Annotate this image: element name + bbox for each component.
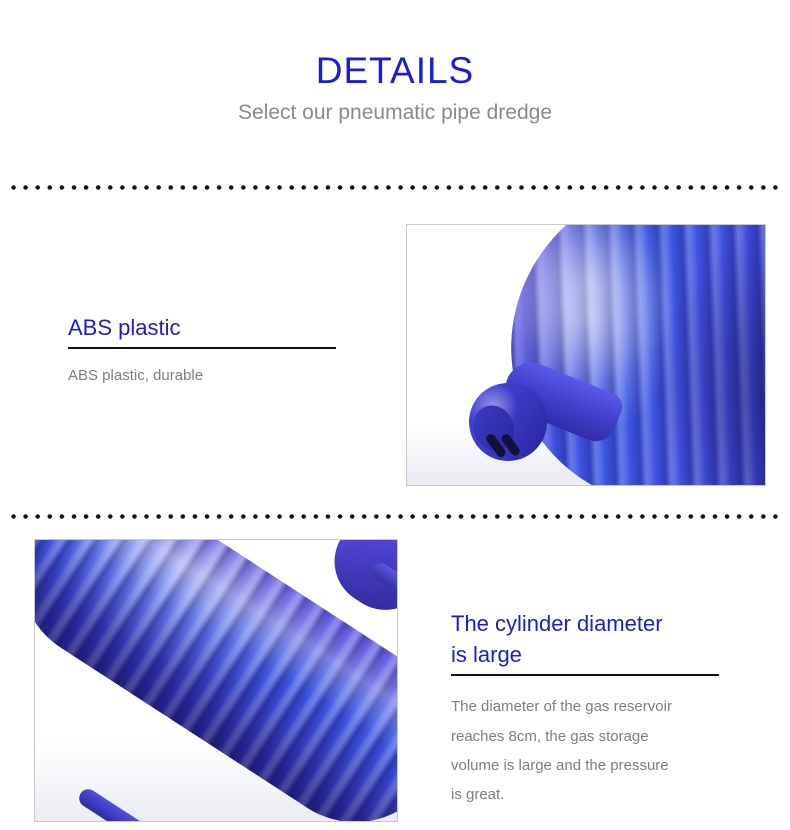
page-title: DETAILS: [0, 0, 790, 91]
product-photo-cylinder: [34, 539, 398, 822]
feature-title: The cylinder diameter is large: [451, 608, 751, 670]
product-photo-pump-head: [406, 224, 766, 486]
photo-canvas: [407, 225, 765, 485]
page-subtitle: Select our pneumatic pipe dredge: [0, 91, 790, 125]
feature-block-abs-plastic: ABS plastic ABS plastic, durable: [68, 312, 368, 386]
feature-title: ABS plastic: [68, 312, 368, 343]
feature-description: ABS plastic, durable: [68, 349, 368, 386]
dotted-divider-bottom: [11, 514, 779, 519]
page-header: DETAILS Select our pneumatic pipe dredge: [0, 0, 790, 125]
photo-canvas: [35, 540, 397, 821]
feature-block-cylinder-diameter: The cylinder diameter is large The diame…: [451, 608, 751, 809]
dotted-divider-top: [11, 185, 779, 190]
feature-description: The diameter of the gas reservoir reache…: [451, 676, 751, 809]
